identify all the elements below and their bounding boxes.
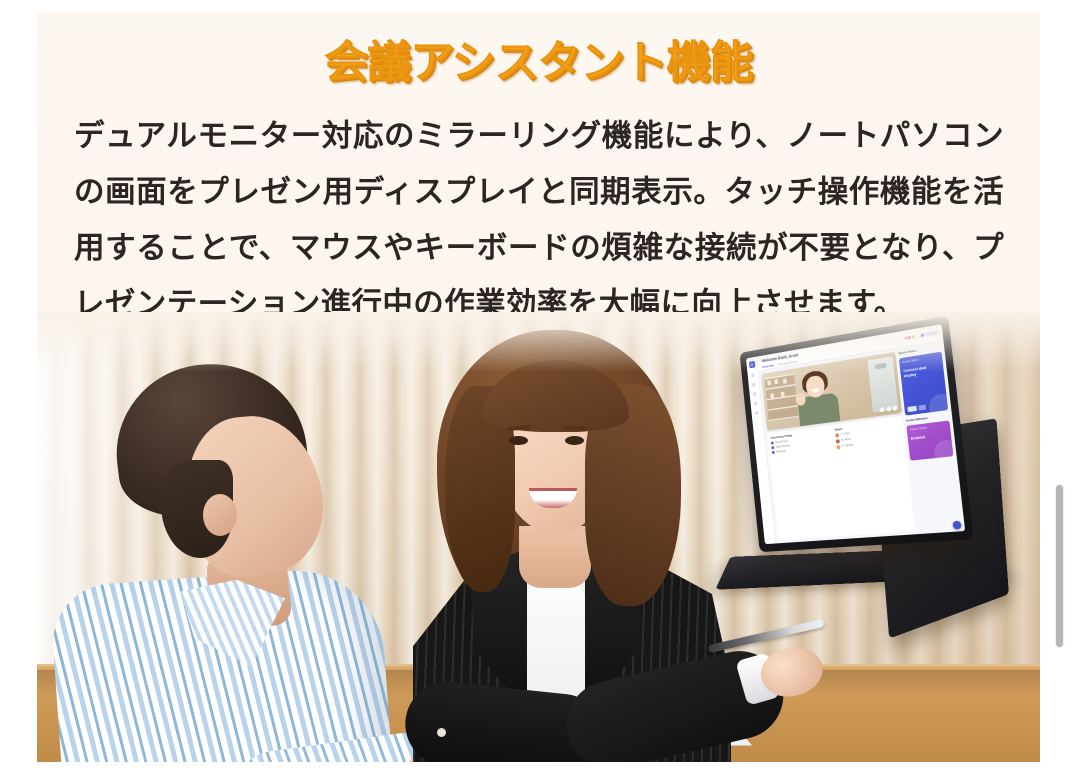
avatar [910, 334, 916, 340]
page-scrollbar-track[interactable] [1062, 0, 1072, 773]
man-ear [203, 494, 237, 536]
card-chip-icon [907, 405, 917, 412]
black-blazer-woman [389, 330, 769, 762]
shelf-item [783, 379, 787, 384]
shelf-item [770, 393, 774, 398]
dashboard-body: Upcoming Today Design Sync [758, 341, 965, 544]
avatar [835, 433, 840, 438]
gear-icon[interactable] [755, 411, 759, 415]
screen-mirror-card[interactable]: Screen Mirror Connect dual display [899, 352, 948, 416]
page-scrollbar-thumb[interactable] [1056, 485, 1063, 647]
woman-eye-right [565, 436, 584, 445]
dashboard-left-column: Upcoming Today Design Sync [761, 352, 915, 541]
end-call-icon[interactable] [892, 405, 898, 411]
touch-control-card[interactable]: Touch Control Enabled [906, 420, 953, 460]
page-title: 会議アシスタント機能 [37, 38, 1040, 88]
shelf-item [767, 380, 771, 385]
background-panel [867, 356, 898, 412]
app-logo-icon[interactable]: G [748, 361, 755, 369]
video-participant [793, 368, 842, 427]
screen-mirror-label: Screen Mirror [902, 355, 939, 364]
portable-touch-monitor: G Welcome Back, Grant [725, 324, 1040, 762]
hero-photo: G Welcome Back, Grant [37, 312, 1040, 762]
monitor-display[interactable]: G Welcome Back, Grant [746, 324, 965, 544]
team-list: Team A. Chen M. Ros [834, 419, 911, 533]
home-icon[interactable] [751, 373, 755, 377]
bullet-icon [771, 446, 774, 450]
panel-detail-icon [875, 363, 887, 370]
call-controls[interactable] [880, 405, 898, 412]
card-decoration [933, 439, 954, 461]
list-item-label: K. Tanaka [842, 444, 853, 448]
striped-shirt-man [57, 364, 417, 762]
avatar [836, 439, 841, 444]
list-item-label: A. Chen [841, 432, 850, 436]
shelf-item [781, 392, 785, 397]
monitor-bezel: G Welcome Back, Grant [740, 316, 974, 553]
avatar [836, 445, 841, 450]
touch-control-label: Touch Control [910, 424, 947, 432]
bullet-icon [771, 441, 774, 445]
page-root: 会議アシスタント機能 デュアルモニター対応のミラーリング機能により、ノートパソコ… [0, 0, 1080, 773]
status-dot-icon [921, 333, 925, 337]
woman-neck [519, 526, 591, 588]
dashboard-main: Welcome Back, Grant Overview Meeting Roo… [757, 324, 965, 543]
description-paragraph: デュアルモニター対応のミラーリング機能により、ノートパソコンの画面をプレゼン用デ… [74, 108, 1004, 332]
woman-eye-left [509, 436, 528, 445]
camera-icon[interactable] [886, 406, 891, 412]
dashboard-app: G Welcome Back, Grant [746, 324, 965, 544]
bullet-icon [772, 451, 775, 455]
upcoming-today-list: Upcoming Today Design Sync [770, 428, 842, 538]
woman-ring [437, 728, 446, 737]
chat-icon[interactable] [753, 392, 757, 396]
lists-panel: Upcoming Today Design Sync [767, 416, 915, 540]
list-item-label: M. Rossi [841, 438, 851, 442]
mic-icon[interactable] [880, 407, 885, 413]
card-chip-secondary-icon [918, 404, 926, 411]
shelf-item [774, 379, 778, 384]
screen-mirror-value: Connect dual display [903, 364, 941, 379]
content-panel: 会議アシスタント機能 デュアルモニター対応のミラーリング機能により、ノートパソコ… [37, 12, 1040, 762]
list-item-label: Stand-up [776, 449, 786, 453]
people-icon[interactable] [754, 401, 758, 405]
calendar-icon[interactable] [752, 383, 756, 387]
card-decoration [928, 392, 949, 415]
new-meeting-button[interactable] [952, 521, 961, 530]
